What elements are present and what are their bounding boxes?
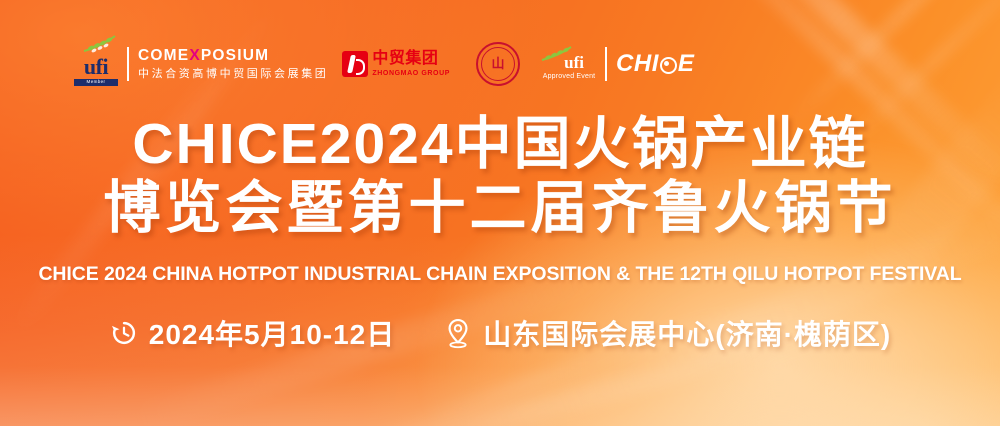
location-pin-icon <box>443 317 473 349</box>
chice-dot-icon <box>660 57 677 74</box>
ufi-member-subtext: Member <box>74 79 118 86</box>
zhongmao-chinese-name: 中贸集团 <box>372 51 450 67</box>
seal-ring-icon: 山 <box>476 42 520 86</box>
wheat-sprig-icon <box>540 46 574 62</box>
title-line-1: CHICE2024中国火锅产业链 <box>0 112 1000 176</box>
page-title: CHICE2024中国火锅产业链 博览会暨第十二届齐鲁火锅节 <box>0 112 1000 240</box>
comexposium-word-part: POSIUM <box>201 47 269 64</box>
event-venue: 山东国际会展中心(济南·槐荫区) <box>443 313 891 353</box>
title-subtitle-english: CHICE 2024 CHINA HOTPOT INDUSTRIAL CHAIN… <box>0 263 1000 286</box>
chice-wordmark-logo: CHIE <box>616 50 694 78</box>
clock-history-icon <box>109 318 139 348</box>
logo-divider <box>605 47 607 81</box>
sponsor-logo-strip: ufi Member COMEXPOSIUM 中法合资高博中贸国际会展集团 中贸… <box>74 36 694 92</box>
wheat-sprig-icon <box>82 35 118 53</box>
comexposium-word-part: COME <box>138 47 189 64</box>
zhongmao-english-name: ZHONGMAO GROUP <box>372 70 450 77</box>
logo-divider <box>127 47 129 81</box>
comexposium-accent-x: X <box>189 47 201 64</box>
seal-glyph: 山 <box>492 58 505 71</box>
ufi-member-wordmark: ufi <box>74 56 118 78</box>
chice-text-before: CHI <box>616 50 659 78</box>
comexposium-logo: COMEXPOSIUM 中法合资高博中贸国际会展集团 <box>138 48 328 80</box>
title-line-2: 博览会暨第十二届齐鲁火锅节 <box>0 176 1000 240</box>
zhongmao-badge-icon <box>342 51 368 77</box>
comexposium-wordmark: COMEXPOSIUM <box>138 48 328 64</box>
ufi-approved-event-logo: ufi Approved Event <box>542 48 596 80</box>
event-banner: ufi Member COMEXPOSIUM 中法合资高博中贸国际会展集团 中贸… <box>0 0 1000 426</box>
red-seal-logo: 山 <box>476 42 520 86</box>
ufi-approved-subtext: Approved Event <box>542 73 596 80</box>
event-date: 2024年5月10-12日 <box>109 313 395 353</box>
event-info-row: 2024年5月10-12日 山东国际会展中心(济南·槐荫区) <box>0 313 1000 353</box>
ufi-member-logo: ufi Member <box>74 39 118 89</box>
comexposium-chinese-name: 中法合资高博中贸国际会展集团 <box>138 69 328 80</box>
chice-text-after: E <box>678 50 695 78</box>
event-date-text: 2024年5月10-12日 <box>149 313 395 353</box>
event-venue-text: 山东国际会展中心(济南·槐荫区) <box>483 313 891 353</box>
zhongmao-group-logo: 中贸集团 ZHONGMAO GROUP <box>342 51 450 77</box>
